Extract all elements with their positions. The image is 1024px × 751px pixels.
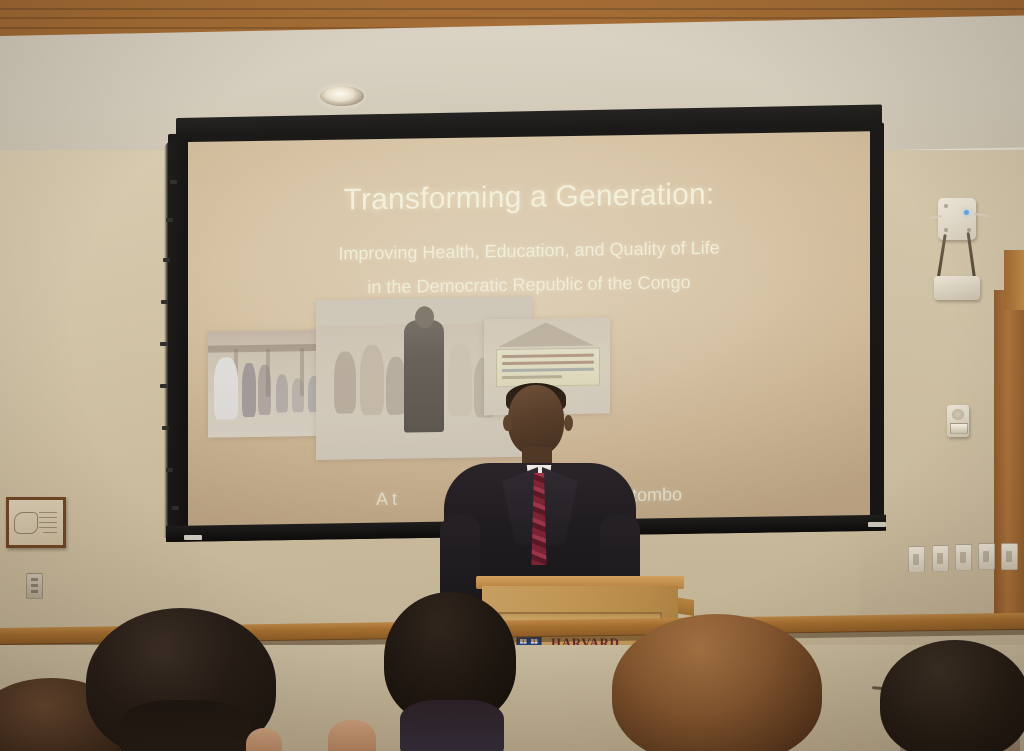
recessed-downlight-left [320,86,364,106]
slide-photo-center-figure [404,320,444,433]
slide-byline-left: A t [376,489,397,509]
audience-head-auburn-right [612,614,822,751]
audience-shoulders-center [400,700,504,751]
audience-hand-raised [328,720,376,751]
audience-neck-dark-left [120,700,250,751]
wall-outlet[interactable] [26,573,43,599]
light-switch-3[interactable] [955,544,972,571]
light-switch-4[interactable] [978,543,995,570]
fire-alarm-strobe [947,405,969,437]
lecture-hall-photo: Transforming a Generation: Improving Hea… [0,0,1024,751]
screen-left-edge [158,138,192,538]
audience-head-dark-far-right [880,640,1024,751]
wood-column-right [994,290,1024,630]
light-switch-5[interactable] [1001,543,1018,570]
presenter-head [508,385,564,455]
status-led [964,210,969,215]
slide-subtitle-line-1: Improving Health, Education, and Quality… [188,235,870,267]
framed-print [6,497,66,548]
slide-title: Transforming a Generation: [188,175,870,220]
light-switch-1[interactable] [908,546,925,573]
wood-trim-upper-right [1004,250,1024,310]
light-switch-2[interactable] [932,545,949,572]
slide-photo-banner [496,348,600,388]
